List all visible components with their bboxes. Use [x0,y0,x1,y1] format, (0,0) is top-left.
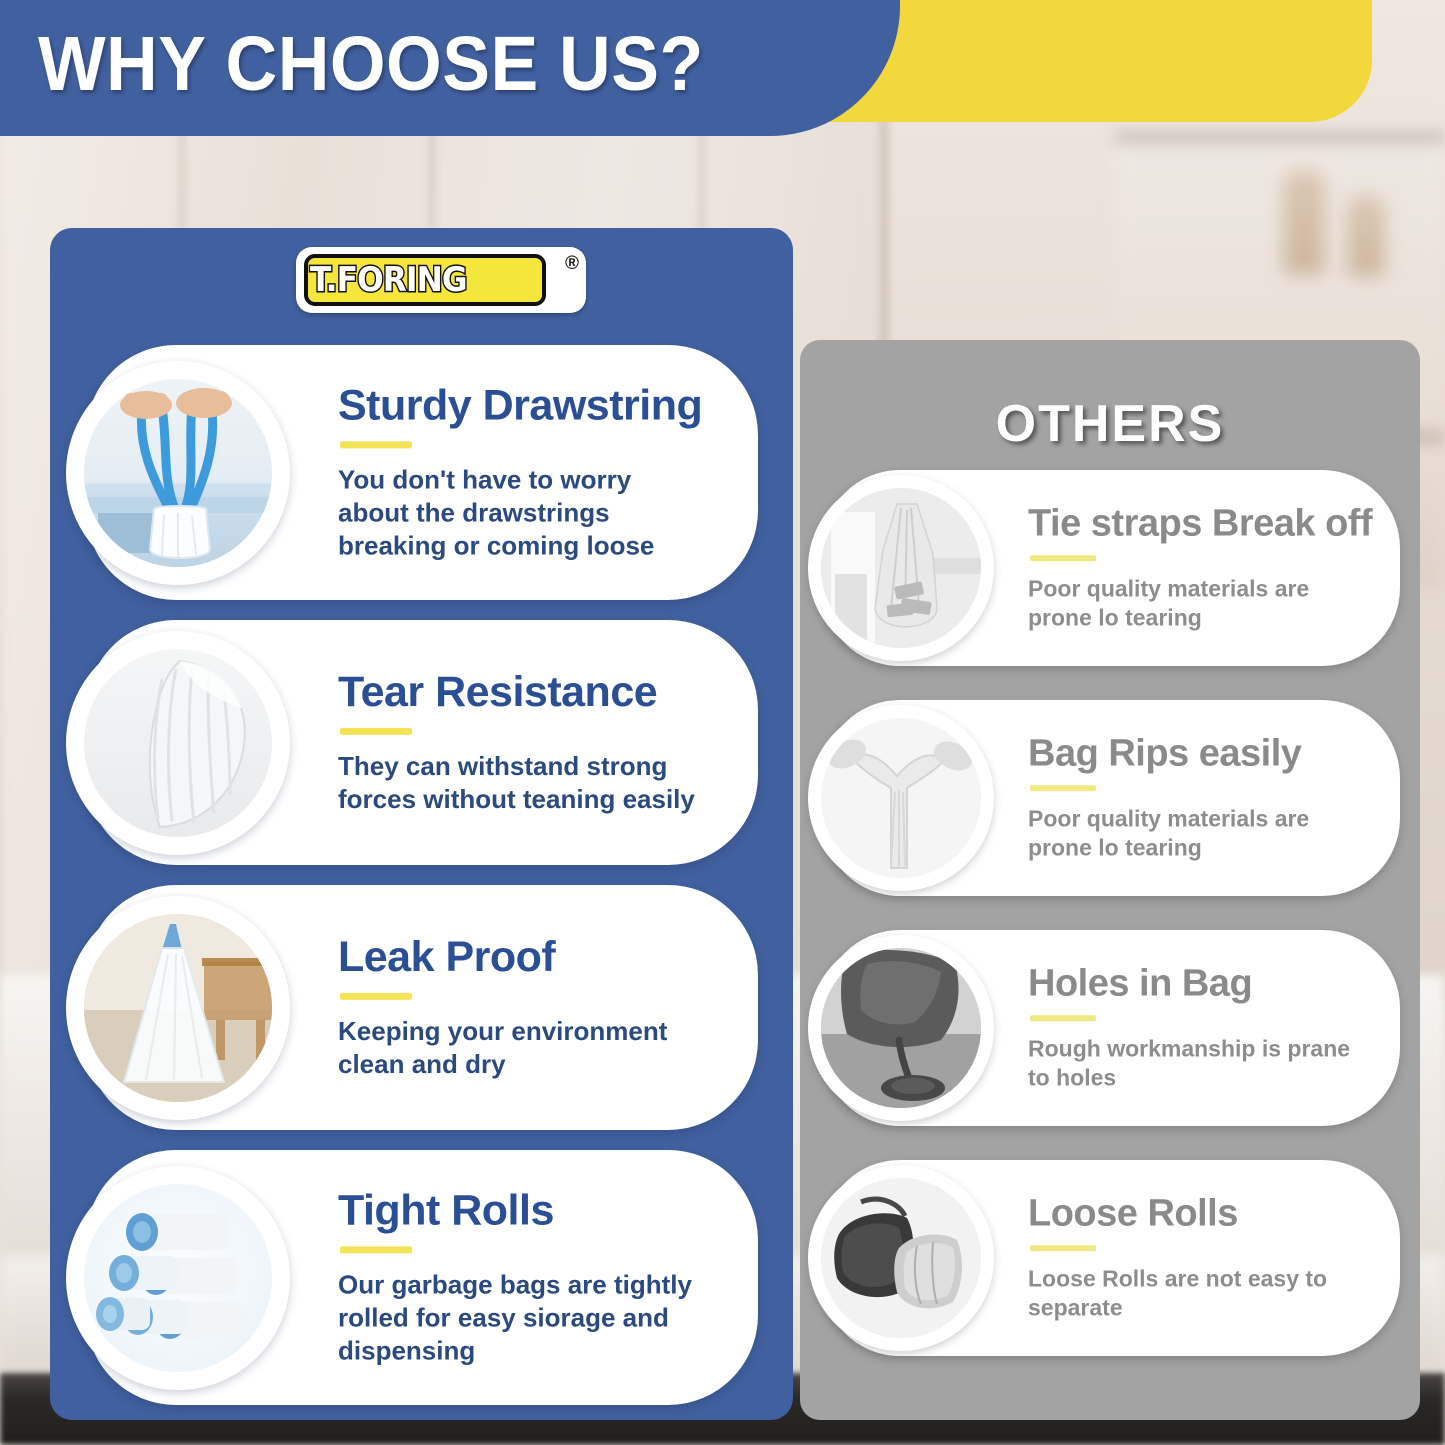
drawstring-photo-icon [84,379,272,567]
feature-text: Tight Rolls Our garbage bags are tightly… [338,1188,706,1367]
drawback-text: Holes in Bag Rough workmanship is prane … [1028,964,1370,1091]
drawback-text: Loose Rolls Loose Rolls are not easy to … [1028,1194,1370,1321]
bag-rips-photo-icon [821,718,981,878]
title-underline [1030,555,1096,561]
brand-logo: T.FORING ® [296,247,586,313]
drawback-title: Bag Rips easily [1028,734,1370,774]
leak-proof-photo-icon [84,914,272,1102]
tight-rolls-photo-icon [84,1184,272,1372]
registered-trademark-icon: ® [565,253,579,275]
drawback-card-bag-rips[interactable]: Bag Rips easily Poor quality materials a… [822,700,1400,896]
tear-resistance-photo-icon [84,649,272,837]
drawback-thumbnail [808,935,994,1121]
title-underline [340,441,412,448]
drawback-card-tie-straps[interactable]: Tie straps Break off Poor quality materi… [822,470,1400,666]
drawback-card-holes[interactable]: Holes in Bag Rough workmanship is prane … [822,930,1400,1126]
feature-title: Sturdy Drawstring [338,383,706,428]
feature-thumbnail [66,896,290,1120]
drawback-description: Rough workmanship is prane to holes [1028,1034,1370,1092]
title-underline [340,1246,412,1253]
feature-description: They can withstand strong forces without… [338,750,706,816]
feature-title: Tear Resistance [338,669,706,714]
drawback-card-loose-rolls[interactable]: Loose Rolls Loose Rolls are not easy to … [822,1160,1400,1356]
drawback-title: Tie straps Break off [1028,504,1370,544]
feature-title: Leak Proof [338,934,706,979]
title-underline [1030,785,1096,791]
drawback-text: Bag Rips easily Poor quality materials a… [1028,734,1370,861]
title-underline [340,993,412,1000]
feature-text: Sturdy Drawstring You don't have to worr… [338,383,706,562]
title-underline [1030,1015,1096,1021]
header-banner: WHY CHOOSE US? [0,0,1445,136]
drawback-title: Holes in Bag [1028,964,1370,1004]
feature-text: Tear Resistance They can withstand stron… [338,669,706,815]
feature-description: You don't have to worry about the drawst… [338,463,706,562]
drawback-description: Poor quality materials are prone lo tear… [1028,574,1370,632]
feature-text: Leak Proof Keeping your environment clea… [338,934,706,1080]
holes-in-bag-photo-icon [821,948,981,1108]
shelf-jar [1283,170,1325,275]
feature-thumbnail [66,1166,290,1390]
page-title: WHY CHOOSE US? [38,20,704,109]
drawback-description: Poor quality materials are prone lo tear… [1028,804,1370,862]
drawback-text: Tie straps Break off Poor quality materi… [1028,504,1370,631]
drawback-thumbnail [808,705,994,891]
drawback-thumbnail [808,475,994,661]
title-underline [340,728,412,735]
feature-card-sturdy-drawstring[interactable]: Sturdy Drawstring You don't have to worr… [86,345,758,600]
feature-thumbnail [66,631,290,855]
drawback-title: Loose Rolls [1028,1194,1370,1234]
drawback-thumbnail [808,1165,994,1351]
feature-card-leak-proof[interactable]: Leak Proof Keeping your environment clea… [86,885,758,1130]
feature-description: Our garbage bags are tightly rolled for … [338,1268,706,1367]
feature-card-tear-resistance[interactable]: Tear Resistance They can withstand stron… [86,620,758,865]
title-underline [1030,1245,1096,1251]
loose-rolls-photo-icon [821,1178,981,1338]
feature-title: Tight Rolls [338,1188,706,1233]
competitor-panel-title: OTHERS [800,394,1420,454]
drawback-description: Loose Rolls are not easy to separate [1028,1264,1370,1322]
shelf-jar [1347,195,1385,277]
logo-wordmark: T.FORING [310,260,467,300]
feature-description: Keeping your environment clean and dry [338,1015,706,1081]
feature-thumbnail [66,361,290,585]
tie-straps-photo-icon [821,488,981,648]
feature-card-tight-rolls[interactable]: Tight Rolls Our garbage bags are tightly… [86,1150,758,1405]
